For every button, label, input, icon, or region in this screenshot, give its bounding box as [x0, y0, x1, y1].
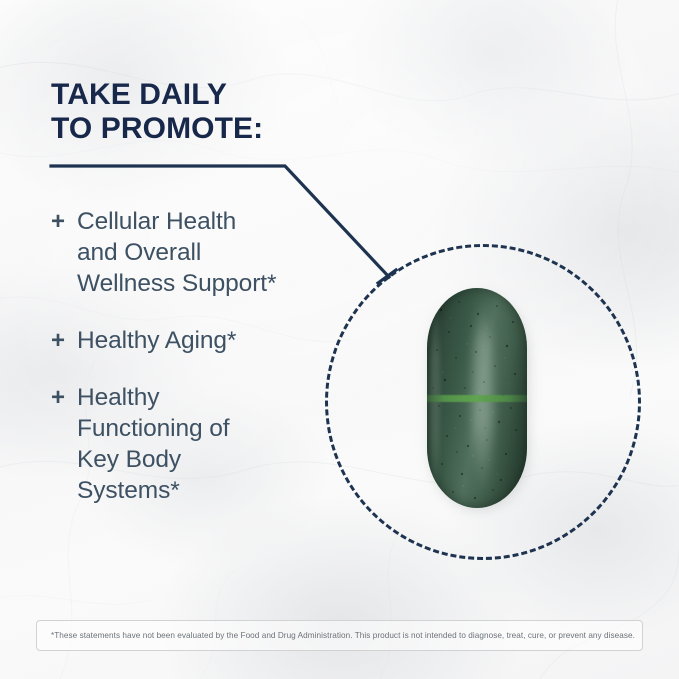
tablet-body [427, 288, 527, 508]
disclaimer-text: *These statements have not been evaluate… [37, 630, 635, 641]
tablet-score-line [427, 395, 527, 402]
page-title: TAKE DAILY TO PROMOTE: [51, 78, 381, 146]
list-item: + Healthy Functioning of Key Body System… [51, 382, 351, 506]
product-benefits-image: TAKE DAILY TO PROMOTE: + Cellular Health… [0, 0, 679, 679]
product-tablet [427, 288, 527, 508]
benefits-list: + Cellular Health and Overall Wellness S… [51, 206, 351, 532]
plus-icon: + [51, 206, 77, 237]
plus-icon: + [51, 382, 77, 413]
benefit-text: Cellular Health and Overall Wellness Sup… [77, 206, 276, 299]
list-item: + Healthy Aging* [51, 325, 351, 356]
benefit-text: Healthy Functioning of Key Body Systems* [77, 382, 230, 506]
benefit-text: Healthy Aging* [77, 325, 236, 356]
plus-icon: + [51, 325, 77, 356]
disclaimer-box: *These statements have not been evaluate… [36, 620, 643, 651]
list-item: + Cellular Health and Overall Wellness S… [51, 206, 351, 299]
